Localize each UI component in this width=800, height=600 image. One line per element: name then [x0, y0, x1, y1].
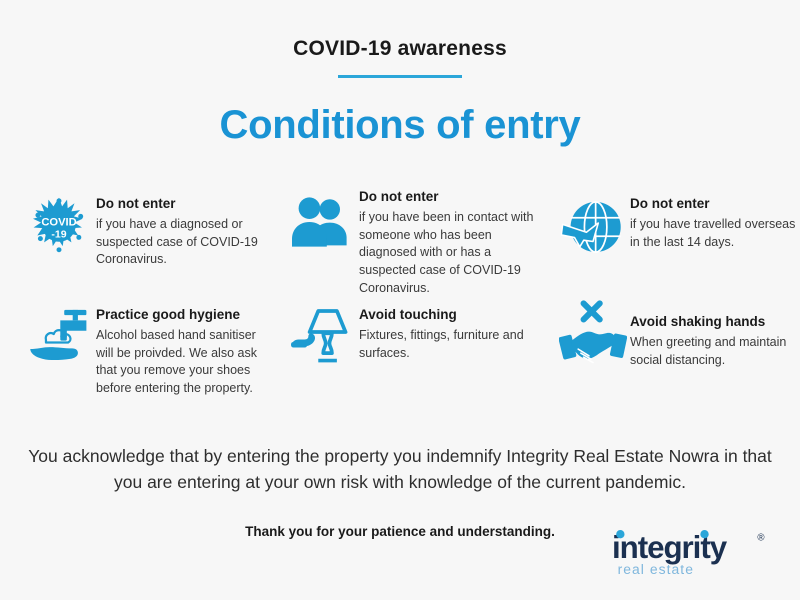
page-title: Conditions of entry: [0, 105, 800, 145]
advisory-item-do-not-enter-contact: Do not enter if you have been in contact…: [275, 180, 550, 298]
acknowledgement-text: You acknowledge that by entering the pro…: [0, 443, 800, 496]
page-header: COVID-19 awareness Conditions of entry: [0, 0, 800, 145]
logo-wordmark: integrity: [612, 530, 728, 565]
advisory-grid: COVID -19 Do not enter if you have a dia…: [0, 180, 800, 410]
logo-registered-mark: ®: [757, 532, 765, 543]
advisory-body: When greeting and maintain social distan…: [630, 334, 798, 370]
advisory-copy: Avoid shaking hands When greeting and ma…: [630, 298, 800, 369]
handwashing-tap-icon: [22, 298, 96, 366]
advisory-item-practice-good-hygiene: Practice good hygiene Alcohol based hand…: [0, 298, 275, 410]
advisory-copy: Avoid touching Fixtures, fittings, furni…: [359, 298, 550, 362]
globe-airplane-icon: [556, 180, 630, 260]
logo-dot-i1: [616, 530, 624, 538]
logo-tagline: real estate: [618, 561, 694, 577]
advisory-row-1: COVID -19 Do not enter if you have a dia…: [0, 180, 800, 298]
advisory-title: Do not enter: [96, 196, 275, 213]
advisory-copy: Do not enter if you have a diagnosed or …: [96, 180, 275, 269]
advisory-body: if you have travelled overseas in the la…: [630, 216, 798, 252]
header-divider-rule: [338, 75, 462, 78]
covid-virus-icon: COVID -19: [22, 180, 96, 256]
page-eyebrow: COVID-19 awareness: [0, 38, 800, 59]
advisory-title: Avoid touching: [359, 307, 550, 324]
no-handshake-icon: [556, 298, 630, 372]
logo-dot-i2: [700, 530, 708, 538]
advisory-title: Practice good hygiene: [96, 307, 275, 324]
advisory-copy: Do not enter if you have been in contact…: [359, 180, 550, 298]
advisory-title: Avoid shaking hands: [630, 314, 800, 331]
advisory-item-do-not-enter-travel: Do not enter if you have travelled overs…: [550, 180, 800, 298]
lamp-no-touch-icon: [285, 298, 359, 368]
covid-icon-label-line1: COVID: [41, 217, 76, 229]
covid-icon-label-line2: -19: [51, 228, 66, 240]
advisory-row-2: Practice good hygiene Alcohol based hand…: [0, 298, 800, 410]
two-people-icon: [285, 180, 359, 250]
advisory-title: Do not enter: [630, 196, 800, 213]
advisory-item-avoid-touching: Avoid touching Fixtures, fittings, furni…: [275, 298, 550, 410]
cross-mark-icon: [584, 303, 600, 319]
integrity-real-estate-logo: integrity ® real estate: [612, 525, 772, 581]
advisory-body: if you have a diagnosed or suspected cas…: [96, 216, 272, 269]
advisory-item-do-not-enter-diagnosed: COVID -19 Do not enter if you have a dia…: [0, 180, 275, 298]
advisory-copy: Practice good hygiene Alcohol based hand…: [96, 298, 275, 398]
advisory-copy: Do not enter if you have travelled overs…: [630, 180, 800, 251]
advisory-item-avoid-shaking-hands: Avoid shaking hands When greeting and ma…: [550, 298, 800, 410]
advisory-body: if you have been in contact with someone…: [359, 209, 535, 298]
advisory-body: Alcohol based hand sanitiser will be pro…: [96, 327, 272, 398]
advisory-body: Fixtures, fittings, furniture and surfac…: [359, 327, 535, 363]
advisory-title: Do not enter: [359, 189, 550, 206]
